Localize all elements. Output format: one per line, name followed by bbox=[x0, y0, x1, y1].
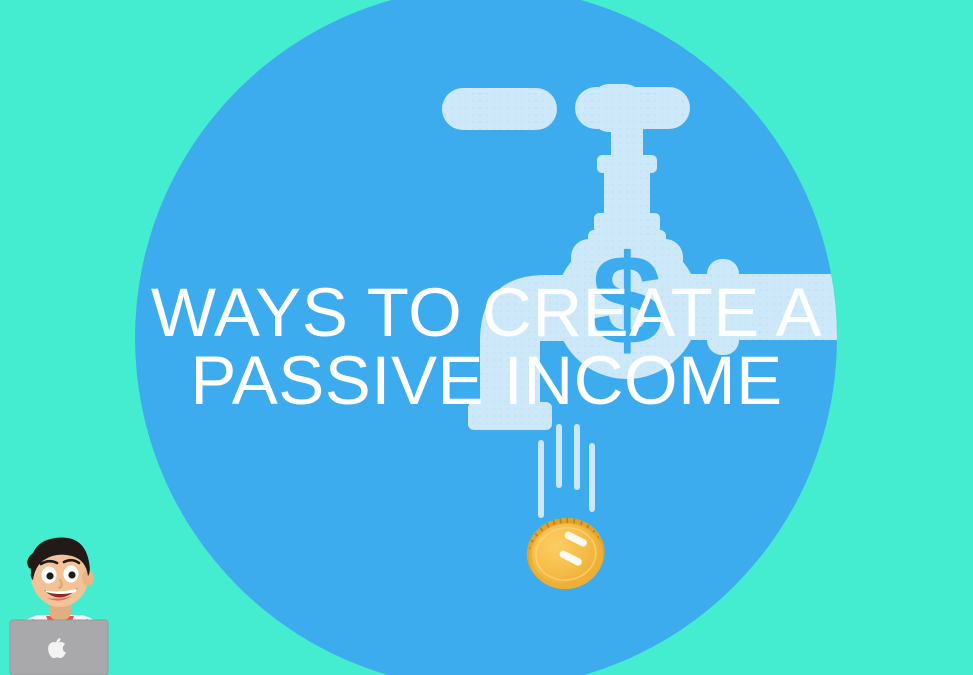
headline-line-2: PASSIVE INCOME bbox=[0, 347, 973, 415]
gold-coin-icon bbox=[524, 515, 608, 591]
laptop bbox=[10, 620, 108, 675]
man-with-laptop-illustration bbox=[2, 520, 118, 675]
head bbox=[27, 538, 94, 608]
poster-canvas: $ WAYS TO CREATE A PASSIVE INCOME bbox=[0, 0, 973, 675]
drip-line bbox=[556, 424, 562, 488]
drip-line bbox=[538, 440, 544, 518]
headline-line-1: WAYS TO CREATE A bbox=[0, 279, 973, 347]
drip-line bbox=[574, 424, 580, 490]
drip-line bbox=[589, 443, 595, 512]
page-title: WAYS TO CREATE A PASSIVE INCOME bbox=[0, 279, 973, 415]
